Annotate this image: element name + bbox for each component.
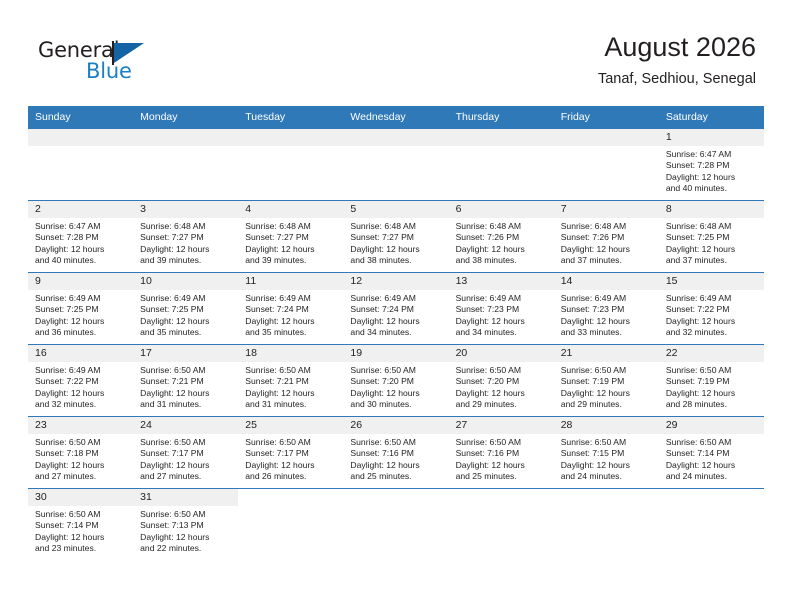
weekday-header-tuesday: Tuesday <box>238 106 343 129</box>
sunset-text: Sunset: 7:21 PM <box>140 376 232 387</box>
day-details: Sunrise: 6:50 AMSunset: 7:16 PMDaylight:… <box>343 434 448 483</box>
daylight-text: Daylight: 12 hours <box>245 316 337 327</box>
calendar-day-cell[interactable]: 29Sunrise: 6:50 AMSunset: 7:14 PMDayligh… <box>659 417 764 489</box>
daylight-text: Daylight: 12 hours <box>140 532 232 543</box>
sunset-text: Sunset: 7:26 PM <box>456 232 548 243</box>
day-number: 2 <box>28 201 133 218</box>
daylight-text: Daylight: 12 hours <box>561 388 653 399</box>
daylight-text: Daylight: 12 hours <box>35 316 127 327</box>
calendar-cell-empty <box>28 129 133 201</box>
sunrise-text: Sunrise: 6:48 AM <box>666 221 758 232</box>
day-number: 16 <box>28 345 133 362</box>
calendar-day-cell[interactable]: 3Sunrise: 6:48 AMSunset: 7:27 PMDaylight… <box>133 201 238 273</box>
day-details: Sunrise: 6:49 AMSunset: 7:23 PMDaylight:… <box>554 290 659 339</box>
weekday-header-wednesday: Wednesday <box>343 106 448 129</box>
sunrise-text: Sunrise: 6:50 AM <box>35 437 127 448</box>
daylight-text: Daylight: 12 hours <box>35 532 127 543</box>
calendar-cell-empty <box>659 489 764 561</box>
calendar-day-cell[interactable]: 14Sunrise: 6:49 AMSunset: 7:23 PMDayligh… <box>554 273 659 345</box>
calendar-day-cell[interactable]: 18Sunrise: 6:50 AMSunset: 7:21 PMDayligh… <box>238 345 343 417</box>
daylight-text-cont: and 39 minutes. <box>140 255 232 266</box>
calendar-day-cell[interactable]: 15Sunrise: 6:49 AMSunset: 7:22 PMDayligh… <box>659 273 764 345</box>
day-number <box>659 489 764 506</box>
daylight-text-cont: and 28 minutes. <box>666 399 758 410</box>
sunrise-text: Sunrise: 6:49 AM <box>245 293 337 304</box>
daylight-text: Daylight: 12 hours <box>456 388 548 399</box>
calendar-day-cell[interactable]: 1Sunrise: 6:47 AMSunset: 7:28 PMDaylight… <box>659 129 764 201</box>
day-details <box>343 146 448 149</box>
page-subtitle: Tanaf, Sedhiou, Senegal <box>598 71 756 87</box>
daylight-text-cont: and 39 minutes. <box>245 255 337 266</box>
day-number: 19 <box>343 345 448 362</box>
daylight-text-cont: and 29 minutes. <box>561 399 653 410</box>
sunrise-text: Sunrise: 6:50 AM <box>561 365 653 376</box>
daylight-text-cont: and 40 minutes. <box>35 255 127 266</box>
weekday-header-sunday: Sunday <box>28 106 133 129</box>
brand-logo[interactable]: General Blue <box>38 38 238 90</box>
day-details: Sunrise: 6:50 AMSunset: 7:21 PMDaylight:… <box>238 362 343 411</box>
day-details <box>449 146 554 149</box>
daylight-text: Daylight: 12 hours <box>350 244 442 255</box>
calendar-week-row: 1Sunrise: 6:47 AMSunset: 7:28 PMDaylight… <box>28 129 764 201</box>
day-details: Sunrise: 6:48 AMSunset: 7:26 PMDaylight:… <box>554 218 659 267</box>
daylight-text-cont: and 34 minutes. <box>350 327 442 338</box>
day-details: Sunrise: 6:48 AMSunset: 7:27 PMDaylight:… <box>133 218 238 267</box>
calendar-header-row: Sunday Monday Tuesday Wednesday Thursday… <box>28 106 764 129</box>
daylight-text: Daylight: 12 hours <box>456 316 548 327</box>
day-number <box>238 129 343 146</box>
day-details: Sunrise: 6:47 AMSunset: 7:28 PMDaylight:… <box>659 146 764 195</box>
sunset-text: Sunset: 7:23 PM <box>456 304 548 315</box>
sunset-text: Sunset: 7:23 PM <box>561 304 653 315</box>
sunrise-text: Sunrise: 6:50 AM <box>666 437 758 448</box>
day-number: 7 <box>554 201 659 218</box>
day-details: Sunrise: 6:48 AMSunset: 7:26 PMDaylight:… <box>449 218 554 267</box>
sunset-text: Sunset: 7:18 PM <box>35 448 127 459</box>
calendar-cell-empty <box>238 489 343 561</box>
sunset-text: Sunset: 7:14 PM <box>35 520 127 531</box>
day-details: Sunrise: 6:50 AMSunset: 7:20 PMDaylight:… <box>343 362 448 411</box>
daylight-text: Daylight: 12 hours <box>561 244 653 255</box>
day-details: Sunrise: 6:48 AMSunset: 7:25 PMDaylight:… <box>659 218 764 267</box>
sunset-text: Sunset: 7:25 PM <box>666 232 758 243</box>
daylight-text-cont: and 22 minutes. <box>140 543 232 554</box>
sunrise-text: Sunrise: 6:48 AM <box>561 221 653 232</box>
day-details <box>449 506 554 509</box>
daylight-text-cont: and 27 minutes. <box>35 471 127 482</box>
daylight-text-cont: and 31 minutes. <box>140 399 232 410</box>
day-number: 4 <box>238 201 343 218</box>
sunrise-text: Sunrise: 6:49 AM <box>456 293 548 304</box>
daylight-text: Daylight: 12 hours <box>350 316 442 327</box>
daylight-text: Daylight: 12 hours <box>561 316 653 327</box>
day-details <box>343 506 448 509</box>
daylight-text-cont: and 25 minutes. <box>456 471 548 482</box>
daylight-text-cont: and 38 minutes. <box>456 255 548 266</box>
daylight-text: Daylight: 12 hours <box>245 460 337 471</box>
sunset-text: Sunset: 7:24 PM <box>245 304 337 315</box>
day-details: Sunrise: 6:50 AMSunset: 7:19 PMDaylight:… <box>659 362 764 411</box>
daylight-text-cont: and 33 minutes. <box>561 327 653 338</box>
day-number <box>238 489 343 506</box>
calendar-day-cell[interactable]: 8Sunrise: 6:48 AMSunset: 7:25 PMDaylight… <box>659 201 764 273</box>
calendar-cell-empty <box>238 129 343 201</box>
calendar-grid: Sunday Monday Tuesday Wednesday Thursday… <box>28 106 764 560</box>
sunrise-text: Sunrise: 6:50 AM <box>456 437 548 448</box>
day-number: 8 <box>659 201 764 218</box>
sunset-text: Sunset: 7:28 PM <box>666 160 758 171</box>
daylight-text: Daylight: 12 hours <box>140 316 232 327</box>
calendar-cell-empty <box>449 129 554 201</box>
daylight-text: Daylight: 12 hours <box>140 244 232 255</box>
sunset-text: Sunset: 7:27 PM <box>140 232 232 243</box>
calendar-body: 1Sunrise: 6:47 AMSunset: 7:28 PMDaylight… <box>28 129 764 561</box>
daylight-text: Daylight: 12 hours <box>666 388 758 399</box>
calendar-day-cell[interactable]: 17Sunrise: 6:50 AMSunset: 7:21 PMDayligh… <box>133 345 238 417</box>
day-number: 3 <box>133 201 238 218</box>
daylight-text: Daylight: 12 hours <box>666 172 758 183</box>
day-number <box>554 489 659 506</box>
calendar-day-cell[interactable]: 13Sunrise: 6:49 AMSunset: 7:23 PMDayligh… <box>449 273 554 345</box>
daylight-text-cont: and 34 minutes. <box>456 327 548 338</box>
page-header: General Blue August 2026 Tanaf, Sedhiou,… <box>0 0 792 100</box>
calendar-week-row: 30Sunrise: 6:50 AMSunset: 7:14 PMDayligh… <box>28 489 764 561</box>
calendar-day-cell[interactable]: 24Sunrise: 6:50 AMSunset: 7:17 PMDayligh… <box>133 417 238 489</box>
calendar-day-cell[interactable]: 27Sunrise: 6:50 AMSunset: 7:16 PMDayligh… <box>449 417 554 489</box>
sunrise-text: Sunrise: 6:50 AM <box>245 437 337 448</box>
calendar-cell-empty <box>133 129 238 201</box>
calendar-day-cell[interactable]: 23Sunrise: 6:50 AMSunset: 7:18 PMDayligh… <box>28 417 133 489</box>
calendar-page: General Blue August 2026 Tanaf, Sedhiou,… <box>0 0 792 612</box>
day-number <box>449 129 554 146</box>
calendar-week-row: 2Sunrise: 6:47 AMSunset: 7:28 PMDaylight… <box>28 201 764 273</box>
day-details: Sunrise: 6:50 AMSunset: 7:19 PMDaylight:… <box>554 362 659 411</box>
sunrise-text: Sunrise: 6:49 AM <box>666 293 758 304</box>
day-number: 21 <box>554 345 659 362</box>
calendar-cell-empty <box>554 129 659 201</box>
calendar-cell-empty <box>343 129 448 201</box>
calendar-day-cell[interactable]: 30Sunrise: 6:50 AMSunset: 7:14 PMDayligh… <box>28 489 133 561</box>
weekday-header-thursday: Thursday <box>449 106 554 129</box>
sunrise-text: Sunrise: 6:50 AM <box>245 365 337 376</box>
sunset-text: Sunset: 7:20 PM <box>456 376 548 387</box>
sunrise-text: Sunrise: 6:49 AM <box>35 293 127 304</box>
daylight-text-cont: and 25 minutes. <box>350 471 442 482</box>
day-number <box>133 129 238 146</box>
sunset-text: Sunset: 7:13 PM <box>140 520 232 531</box>
sunrise-text: Sunrise: 6:49 AM <box>561 293 653 304</box>
sunset-text: Sunset: 7:19 PM <box>666 376 758 387</box>
weekday-header-friday: Friday <box>554 106 659 129</box>
calendar-day-cell[interactable]: 28Sunrise: 6:50 AMSunset: 7:15 PMDayligh… <box>554 417 659 489</box>
daylight-text-cont: and 31 minutes. <box>245 399 337 410</box>
day-details: Sunrise: 6:50 AMSunset: 7:17 PMDaylight:… <box>133 434 238 483</box>
sunrise-text: Sunrise: 6:50 AM <box>140 437 232 448</box>
sunrise-text: Sunrise: 6:50 AM <box>350 365 442 376</box>
sunset-text: Sunset: 7:19 PM <box>561 376 653 387</box>
sunset-text: Sunset: 7:16 PM <box>456 448 548 459</box>
sunset-text: Sunset: 7:26 PM <box>561 232 653 243</box>
day-number: 10 <box>133 273 238 290</box>
sunset-text: Sunset: 7:25 PM <box>35 304 127 315</box>
sunrise-text: Sunrise: 6:49 AM <box>140 293 232 304</box>
calendar-day-cell[interactable]: 4Sunrise: 6:48 AMSunset: 7:27 PMDaylight… <box>238 201 343 273</box>
day-number: 22 <box>659 345 764 362</box>
daylight-text: Daylight: 12 hours <box>35 460 127 471</box>
daylight-text-cont: and 27 minutes. <box>140 471 232 482</box>
day-number: 5 <box>343 201 448 218</box>
daylight-text: Daylight: 12 hours <box>35 244 127 255</box>
day-details <box>133 146 238 149</box>
daylight-text: Daylight: 12 hours <box>666 460 758 471</box>
day-number: 15 <box>659 273 764 290</box>
daylight-text: Daylight: 12 hours <box>350 388 442 399</box>
day-details: Sunrise: 6:49 AMSunset: 7:25 PMDaylight:… <box>28 290 133 339</box>
sunset-text: Sunset: 7:17 PM <box>140 448 232 459</box>
day-number <box>343 129 448 146</box>
day-number: 11 <box>238 273 343 290</box>
sunrise-text: Sunrise: 6:50 AM <box>140 509 232 520</box>
calendar-day-cell[interactable]: 7Sunrise: 6:48 AMSunset: 7:26 PMDaylight… <box>554 201 659 273</box>
sunset-text: Sunset: 7:16 PM <box>350 448 442 459</box>
day-details: Sunrise: 6:47 AMSunset: 7:28 PMDaylight:… <box>28 218 133 267</box>
day-details: Sunrise: 6:48 AMSunset: 7:27 PMDaylight:… <box>343 218 448 267</box>
daylight-text-cont: and 29 minutes. <box>456 399 548 410</box>
day-number <box>554 129 659 146</box>
daylight-text-cont: and 36 minutes. <box>35 327 127 338</box>
day-number: 31 <box>133 489 238 506</box>
daylight-text: Daylight: 12 hours <box>666 244 758 255</box>
sunrise-text: Sunrise: 6:50 AM <box>140 365 232 376</box>
day-number: 13 <box>449 273 554 290</box>
day-number: 29 <box>659 417 764 434</box>
day-details: Sunrise: 6:50 AMSunset: 7:13 PMDaylight:… <box>133 506 238 555</box>
daylight-text-cont: and 24 minutes. <box>561 471 653 482</box>
sunrise-text: Sunrise: 6:50 AM <box>35 509 127 520</box>
daylight-text-cont: and 38 minutes. <box>350 255 442 266</box>
calendar-day-cell[interactable]: 11Sunrise: 6:49 AMSunset: 7:24 PMDayligh… <box>238 273 343 345</box>
daylight-text-cont: and 40 minutes. <box>666 183 758 194</box>
sunrise-text: Sunrise: 6:49 AM <box>35 365 127 376</box>
day-details <box>238 146 343 149</box>
calendar-day-cell[interactable]: 6Sunrise: 6:48 AMSunset: 7:26 PMDaylight… <box>449 201 554 273</box>
day-details: Sunrise: 6:50 AMSunset: 7:15 PMDaylight:… <box>554 434 659 483</box>
day-details: Sunrise: 6:50 AMSunset: 7:18 PMDaylight:… <box>28 434 133 483</box>
brand-name-blue: Blue <box>86 59 132 83</box>
daylight-text-cont: and 30 minutes. <box>350 399 442 410</box>
day-number: 26 <box>343 417 448 434</box>
daylight-text: Daylight: 12 hours <box>666 316 758 327</box>
calendar-day-cell[interactable]: 2Sunrise: 6:47 AMSunset: 7:28 PMDaylight… <box>28 201 133 273</box>
sunset-text: Sunset: 7:25 PM <box>140 304 232 315</box>
title-block: August 2026 Tanaf, Sedhiou, Senegal <box>598 32 756 87</box>
day-details: Sunrise: 6:50 AMSunset: 7:20 PMDaylight:… <box>449 362 554 411</box>
day-number <box>343 489 448 506</box>
sunset-text: Sunset: 7:14 PM <box>666 448 758 459</box>
calendar-day-cell[interactable]: 25Sunrise: 6:50 AMSunset: 7:17 PMDayligh… <box>238 417 343 489</box>
day-number: 28 <box>554 417 659 434</box>
day-details: Sunrise: 6:50 AMSunset: 7:21 PMDaylight:… <box>133 362 238 411</box>
day-number <box>28 129 133 146</box>
sunrise-text: Sunrise: 6:48 AM <box>456 221 548 232</box>
sunrise-text: Sunrise: 6:50 AM <box>350 437 442 448</box>
day-number: 20 <box>449 345 554 362</box>
calendar-day-cell[interactable]: 5Sunrise: 6:48 AMSunset: 7:27 PMDaylight… <box>343 201 448 273</box>
daylight-text-cont: and 37 minutes. <box>666 255 758 266</box>
day-details: Sunrise: 6:49 AMSunset: 7:22 PMDaylight:… <box>659 290 764 339</box>
day-details: Sunrise: 6:49 AMSunset: 7:25 PMDaylight:… <box>133 290 238 339</box>
day-number: 12 <box>343 273 448 290</box>
sunset-text: Sunset: 7:28 PM <box>35 232 127 243</box>
day-details <box>659 506 764 509</box>
day-details: Sunrise: 6:50 AMSunset: 7:17 PMDaylight:… <box>238 434 343 483</box>
calendar-day-cell[interactable]: 19Sunrise: 6:50 AMSunset: 7:20 PMDayligh… <box>343 345 448 417</box>
calendar-day-cell[interactable]: 21Sunrise: 6:50 AMSunset: 7:19 PMDayligh… <box>554 345 659 417</box>
daylight-text: Daylight: 12 hours <box>140 388 232 399</box>
day-number: 14 <box>554 273 659 290</box>
daylight-text: Daylight: 12 hours <box>456 460 548 471</box>
calendar-week-row: 16Sunrise: 6:49 AMSunset: 7:22 PMDayligh… <box>28 345 764 417</box>
day-number <box>449 489 554 506</box>
calendar-day-cell[interactable]: 16Sunrise: 6:49 AMSunset: 7:22 PMDayligh… <box>28 345 133 417</box>
sunset-text: Sunset: 7:27 PM <box>350 232 442 243</box>
sunset-text: Sunset: 7:15 PM <box>561 448 653 459</box>
day-number: 25 <box>238 417 343 434</box>
calendar-cell-empty <box>343 489 448 561</box>
calendar-day-cell[interactable]: 12Sunrise: 6:49 AMSunset: 7:24 PMDayligh… <box>343 273 448 345</box>
calendar-week-row: 23Sunrise: 6:50 AMSunset: 7:18 PMDayligh… <box>28 417 764 489</box>
day-number: 1 <box>659 129 764 146</box>
weekday-header-saturday: Saturday <box>659 106 764 129</box>
calendar-day-cell[interactable]: 26Sunrise: 6:50 AMSunset: 7:16 PMDayligh… <box>343 417 448 489</box>
calendar-week-row: 9Sunrise: 6:49 AMSunset: 7:25 PMDaylight… <box>28 273 764 345</box>
sunset-text: Sunset: 7:22 PM <box>666 304 758 315</box>
sunset-text: Sunset: 7:24 PM <box>350 304 442 315</box>
sunset-text: Sunset: 7:20 PM <box>350 376 442 387</box>
day-number: 23 <box>28 417 133 434</box>
day-details: Sunrise: 6:49 AMSunset: 7:23 PMDaylight:… <box>449 290 554 339</box>
calendar-cell-empty <box>449 489 554 561</box>
sunrise-text: Sunrise: 6:50 AM <box>456 365 548 376</box>
calendar-day-cell[interactable]: 9Sunrise: 6:49 AMSunset: 7:25 PMDaylight… <box>28 273 133 345</box>
sunrise-text: Sunrise: 6:47 AM <box>666 149 758 160</box>
day-details <box>554 146 659 149</box>
day-number: 30 <box>28 489 133 506</box>
daylight-text: Daylight: 12 hours <box>140 460 232 471</box>
sunset-text: Sunset: 7:17 PM <box>245 448 337 459</box>
sunset-text: Sunset: 7:27 PM <box>245 232 337 243</box>
daylight-text-cont: and 35 minutes. <box>245 327 337 338</box>
daylight-text: Daylight: 12 hours <box>245 244 337 255</box>
day-number: 6 <box>449 201 554 218</box>
daylight-text-cont: and 24 minutes. <box>666 471 758 482</box>
day-details: Sunrise: 6:49 AMSunset: 7:24 PMDaylight:… <box>238 290 343 339</box>
daylight-text-cont: and 32 minutes. <box>35 399 127 410</box>
sunrise-text: Sunrise: 6:48 AM <box>140 221 232 232</box>
daylight-text-cont: and 35 minutes. <box>140 327 232 338</box>
calendar-cell-empty <box>554 489 659 561</box>
daylight-text: Daylight: 12 hours <box>456 244 548 255</box>
sunrise-text: Sunrise: 6:50 AM <box>561 437 653 448</box>
day-number: 18 <box>238 345 343 362</box>
daylight-text-cont: and 23 minutes. <box>35 543 127 554</box>
day-number: 17 <box>133 345 238 362</box>
sunrise-text: Sunrise: 6:50 AM <box>666 365 758 376</box>
daylight-text: Daylight: 12 hours <box>561 460 653 471</box>
day-details: Sunrise: 6:49 AMSunset: 7:22 PMDaylight:… <box>28 362 133 411</box>
calendar-day-cell[interactable]: 22Sunrise: 6:50 AMSunset: 7:19 PMDayligh… <box>659 345 764 417</box>
sunset-text: Sunset: 7:22 PM <box>35 376 127 387</box>
day-details: Sunrise: 6:48 AMSunset: 7:27 PMDaylight:… <box>238 218 343 267</box>
sunrise-text: Sunrise: 6:47 AM <box>35 221 127 232</box>
day-details: Sunrise: 6:50 AMSunset: 7:16 PMDaylight:… <box>449 434 554 483</box>
daylight-text-cont: and 32 minutes. <box>666 327 758 338</box>
calendar-day-cell[interactable]: 10Sunrise: 6:49 AMSunset: 7:25 PMDayligh… <box>133 273 238 345</box>
sunset-text: Sunset: 7:21 PM <box>245 376 337 387</box>
day-number: 9 <box>28 273 133 290</box>
sunrise-text: Sunrise: 6:48 AM <box>350 221 442 232</box>
day-details <box>28 146 133 149</box>
sunrise-text: Sunrise: 6:49 AM <box>350 293 442 304</box>
weekday-header-monday: Monday <box>133 106 238 129</box>
page-title: August 2026 <box>598 32 756 63</box>
day-details <box>238 506 343 509</box>
day-details: Sunrise: 6:50 AMSunset: 7:14 PMDaylight:… <box>28 506 133 555</box>
day-number: 27 <box>449 417 554 434</box>
daylight-text-cont: and 26 minutes. <box>245 471 337 482</box>
calendar-day-cell[interactable]: 20Sunrise: 6:50 AMSunset: 7:20 PMDayligh… <box>449 345 554 417</box>
day-details: Sunrise: 6:49 AMSunset: 7:24 PMDaylight:… <box>343 290 448 339</box>
day-details <box>554 506 659 509</box>
daylight-text: Daylight: 12 hours <box>35 388 127 399</box>
daylight-text: Daylight: 12 hours <box>350 460 442 471</box>
daylight-text: Daylight: 12 hours <box>245 388 337 399</box>
sunrise-text: Sunrise: 6:48 AM <box>245 221 337 232</box>
calendar-day-cell[interactable]: 31Sunrise: 6:50 AMSunset: 7:13 PMDayligh… <box>133 489 238 561</box>
day-number: 24 <box>133 417 238 434</box>
day-details: Sunrise: 6:50 AMSunset: 7:14 PMDaylight:… <box>659 434 764 483</box>
daylight-text-cont: and 37 minutes. <box>561 255 653 266</box>
